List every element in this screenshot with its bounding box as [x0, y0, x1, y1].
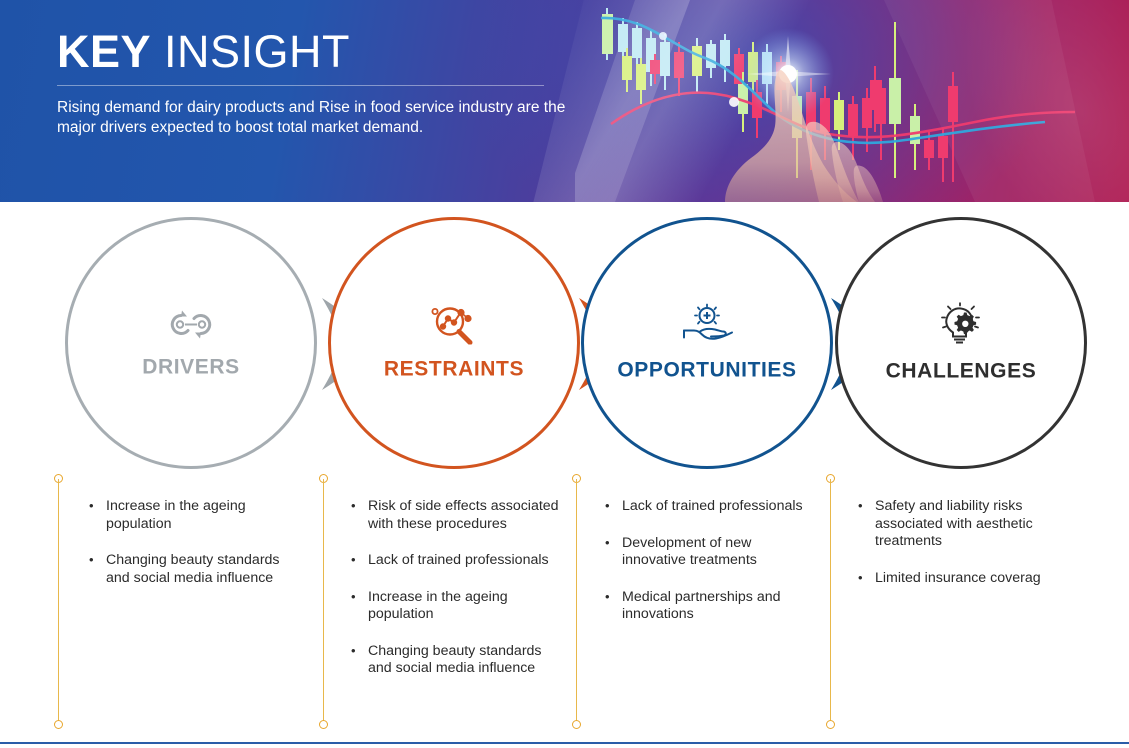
divider-stem [576, 479, 577, 725]
cycle-arrows-gears-icon [68, 307, 314, 348]
page-title-strong: KEY [57, 26, 151, 77]
circle-label-restraints: RESTRAINTS [384, 358, 524, 381]
circle-drivers[interactable]: DRIVERS [65, 217, 317, 469]
candlestick-chart-artwork [575, 0, 1129, 202]
circle-label-challenges: CHALLENGES [886, 360, 1037, 383]
title-block: KEY INSIGHT Rising demand for dairy prod… [57, 26, 597, 138]
bottom-rule [0, 742, 1129, 744]
list-item: Safety and liability risks associated wi… [855, 498, 1069, 551]
circle-label-opportunities: OPPORTUNITIES [617, 359, 796, 382]
list-item: Changing beauty standards and social med… [348, 643, 562, 678]
list-item: Increase in the ageing population [348, 589, 562, 624]
title-divider [57, 85, 544, 86]
page-subtitle: Rising demand for dairy products and Ris… [57, 98, 587, 138]
bullet-list-opportunities: Lack of trained professionals Developmen… [602, 498, 816, 643]
list-item: Medical partnerships and innovations [602, 589, 816, 624]
circle-opportunities[interactable]: OPPORTUNITIES [581, 217, 833, 469]
divider-line-3 [572, 474, 582, 730]
divider-knob-bottom [826, 720, 835, 729]
divider-line-4 [826, 474, 836, 730]
divider-knob-bottom [319, 720, 328, 729]
divider-knob-bottom [572, 720, 581, 729]
list-item: Risk of side effects associated with the… [348, 498, 562, 533]
divider-knob-bottom [54, 720, 63, 729]
divider-line-2 [319, 474, 329, 730]
key-insight-infographic: KEY INSIGHT Rising demand for dairy prod… [0, 0, 1129, 748]
page-title-rest: INSIGHT [151, 26, 350, 77]
lightbulb-gear-icon [838, 303, 1084, 352]
list-item: Development of new innovative treatments [602, 535, 816, 570]
bullet-list-drivers: Increase in the ageing population Changi… [86, 498, 300, 606]
page-title: KEY INSIGHT [57, 26, 597, 78]
bullet-list-restraints: Risk of side effects associated with the… [348, 498, 562, 697]
circle-label-drivers: DRIVERS [142, 356, 240, 379]
divider-stem [58, 479, 59, 725]
list-item: Lack of trained professionals [348, 552, 562, 570]
magnifier-graph-icon [331, 305, 577, 350]
header-banner: KEY INSIGHT Rising demand for dairy prod… [0, 0, 1129, 202]
list-item: Lack of trained professionals [602, 498, 816, 516]
list-item: Increase in the ageing population [86, 498, 300, 533]
list-item: Limited insurance coverag [855, 570, 1069, 588]
divider-stem [323, 479, 324, 725]
swot-stage: DRIVERS [0, 202, 1129, 748]
divider-line-1 [54, 474, 64, 730]
bullet-list-challenges: Safety and liability risks associated wi… [855, 498, 1069, 606]
divider-stem [830, 479, 831, 725]
hand-holding-medical-plus-icon [584, 304, 830, 351]
circle-restraints[interactable]: RESTRAINTS [328, 217, 580, 469]
circle-challenges[interactable]: CHALLENGES [835, 217, 1087, 469]
list-item: Changing beauty standards and social med… [86, 552, 300, 587]
